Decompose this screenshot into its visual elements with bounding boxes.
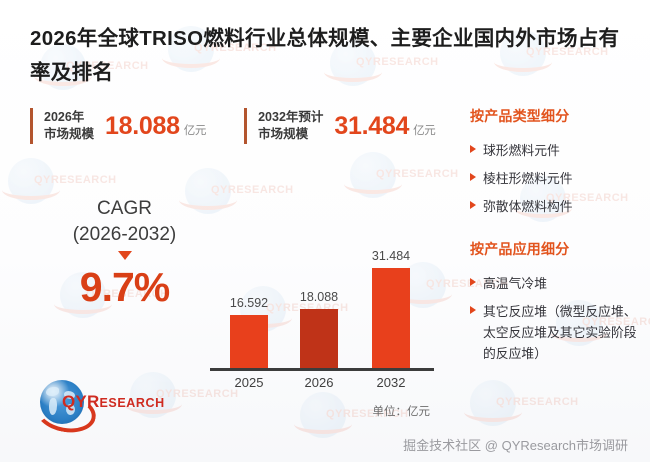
bar-chart: 16.592 18.088 31.484 2025 2026 2032 单位：亿… <box>222 246 422 396</box>
kpi-value: 31.484亿元 <box>334 112 435 141</box>
x-label-2032: 2032 <box>368 375 414 390</box>
list-item: 弥散体燃料构件 <box>470 196 640 217</box>
globe-icon <box>350 152 396 198</box>
bar-value-label: 31.484 <box>372 249 410 263</box>
kpi-value: 18.088亿元 <box>105 112 206 141</box>
x-label-2026: 2026 <box>296 375 342 390</box>
segmentation-panel: 按产品类型细分 球形燃料元件 棱柱形燃料元件 弥散体燃料构件 按产品应用细分 高… <box>470 106 640 386</box>
bar-value-label: 16.592 <box>230 296 268 310</box>
watermark-tile-text: QYRESEARCH <box>34 174 117 186</box>
logo-brand-rest: ESEARCH <box>99 396 164 410</box>
cagr-period: (2026-2032) <box>32 222 217 248</box>
arrow-right-icon <box>470 145 476 153</box>
bar-value-label: 18.088 <box>300 290 338 304</box>
watermark-tile: QYRESEARCH <box>470 380 516 426</box>
kpi-accent-rule <box>30 108 33 144</box>
kpi-number: 18.088 <box>105 112 180 140</box>
kpi-accent-rule <box>244 108 247 144</box>
chart-x-axis-labels: 2025 2026 2032 <box>222 375 422 395</box>
kpi-label: 2026年 市场规模 <box>44 109 94 143</box>
list-item: 其它反应堆（微型反应堆、太空反应堆及其它实验阶段的反应堆） <box>470 301 640 364</box>
watermark-tile-text: QYRESEARCH <box>496 396 579 408</box>
kpi-row: 2026年 市场规模 18.088亿元 2032年预计 市场规模 31.484亿… <box>30 108 435 144</box>
list-item-label: 高温气冷堆 <box>483 276 547 291</box>
cagr-value: 9.7% <box>32 264 217 311</box>
watermark-tile: QYRESEARCH <box>300 392 346 438</box>
bar-slot-2025: 16.592 <box>230 315 268 368</box>
watermark-tile-text: QYRESEARCH <box>211 184 294 196</box>
kpi-unit: 亿元 <box>184 125 206 137</box>
list-item-label: 棱柱形燃料元件 <box>483 171 573 186</box>
chart-plot-area: 16.592 18.088 31.484 <box>222 246 422 368</box>
kpi-2026: 2026年 市场规模 18.088亿元 <box>30 108 206 144</box>
logo-brand-main: QYR <box>62 392 99 411</box>
logo-wordmark: QYRESEARCH <box>62 392 165 412</box>
list-item-label: 弥散体燃料构件 <box>483 199 573 214</box>
triangle-down-icon <box>118 251 132 260</box>
panel-section-product-type: 按产品类型细分 球形燃料元件 棱柱形燃料元件 弥散体燃料构件 <box>470 106 640 217</box>
kpi-number: 31.484 <box>334 112 409 140</box>
chart-baseline-axis <box>210 368 434 371</box>
cagr-title: CAGR <box>32 196 217 222</box>
arrow-right-icon <box>470 306 476 314</box>
cagr-block: CAGR (2026-2032) 9.7% <box>32 196 217 311</box>
bottom-watermark: 掘金技术社区 @ QYResearch市场调研 <box>403 435 628 454</box>
chart-unit-note: 单位：亿元 <box>373 403 431 419</box>
list-item-label: 球形燃料元件 <box>483 143 560 158</box>
bar-2025 <box>230 315 268 368</box>
bar-slot-2032: 31.484 <box>372 268 410 368</box>
bar-slot-2026: 18.088 <box>300 309 338 368</box>
panel-section-title: 按产品类型细分 <box>470 106 640 126</box>
globe-icon <box>300 392 346 438</box>
bar-2032 <box>372 268 410 368</box>
list-item: 高温气冷堆 <box>470 273 640 294</box>
bar-2026 <box>300 309 338 368</box>
list-item: 球形燃料元件 <box>470 140 640 161</box>
x-label-2025: 2025 <box>226 375 272 390</box>
page-title: 2026年全球TRISO燃料行业总体规模、主要企业国内外市场占有率及排名 <box>30 22 630 90</box>
watermark-tile-text: QYRESEARCH <box>376 168 459 180</box>
qyresearch-logo: QYRESEARCH <box>34 378 184 428</box>
arrow-right-icon <box>470 173 476 181</box>
panel-section-title: 按产品应用细分 <box>470 239 640 259</box>
watermark-tile: QYRESEARCH <box>350 152 396 198</box>
arrow-right-icon <box>470 201 476 209</box>
arrow-right-icon <box>470 278 476 286</box>
kpi-unit: 亿元 <box>413 125 435 137</box>
infographic-poster: QYRESEARCH QYRESEARCH QYRESEARCH QYRESEA… <box>0 0 650 462</box>
panel-section-application: 按产品应用细分 高温气冷堆 其它反应堆（微型反应堆、太空反应堆及其它实验阶段的反… <box>470 239 640 364</box>
list-item: 棱柱形燃料元件 <box>470 168 640 189</box>
globe-icon <box>470 380 516 426</box>
kpi-label: 2032年预计 市场规模 <box>258 109 323 143</box>
kpi-2032: 2032年预计 市场规模 31.484亿元 <box>244 108 435 144</box>
list-item-label: 其它反应堆（微型反应堆、太空反应堆及其它实验阶段的反应堆） <box>483 304 637 361</box>
